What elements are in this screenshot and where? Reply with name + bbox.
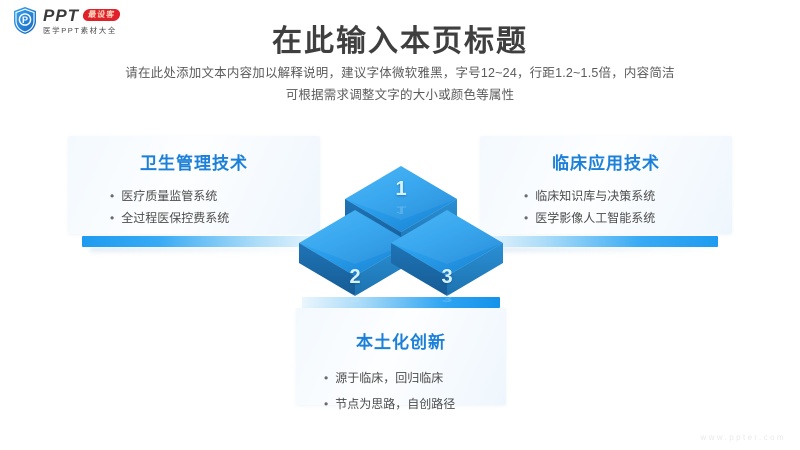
panel-left-heading: 卫生管理技术 bbox=[68, 136, 320, 174]
subtitle-line-2: 可根据需求调整文字的大小或颜色等属性 bbox=[70, 85, 730, 107]
panel-right-bullets: • 临床知识库与决策系统 • 医学影像人工智能系统 bbox=[480, 190, 732, 224]
bullet-text: 节点为思路，自创路径 bbox=[335, 398, 455, 411]
bullet-dot-icon: • bbox=[110, 212, 114, 224]
bullet-text: 医疗质量监管系统 bbox=[121, 190, 217, 203]
cube-3[interactable]: 3 3 bbox=[388, 208, 506, 300]
bullet-text: 源于临床，回归临床 bbox=[335, 372, 443, 385]
panel-right-accent-bar bbox=[480, 236, 718, 247]
panel-left-bullets: • 医疗质量监管系统 • 全过程医保控费系统 bbox=[68, 190, 320, 224]
bullet-dot-icon: • bbox=[524, 212, 528, 224]
page-title: 在此输入本页标题 bbox=[0, 16, 800, 60]
list-item: • 临床知识库与决策系统 bbox=[524, 190, 732, 203]
panel-bottom-bullets: • 源于临床，回归临床 • 节点为思路，自创路径 bbox=[296, 372, 506, 410]
panel-right-bar-shadow bbox=[488, 247, 716, 252]
cube-diagram: 1 1 bbox=[296, 164, 506, 292]
panel-right-heading: 临床应用技术 bbox=[480, 136, 732, 174]
panel-bottom-heading: 本土化创新 bbox=[296, 308, 506, 353]
panel-hygiene-management[interactable]: 卫生管理技术 • 医疗质量监管系统 • 全过程医保控费系统 bbox=[68, 136, 320, 234]
subtitle-line-1: 请在此处添加文本内容加以解释说明，建议字体微软雅黑，字号12~24，行距1.2~… bbox=[70, 63, 730, 85]
list-item: • 节点为思路，自创路径 bbox=[324, 398, 506, 411]
page-subtitle: 请在此处添加文本内容加以解释说明，建议字体微软雅黑，字号12~24，行距1.2~… bbox=[70, 63, 730, 107]
bullet-dot-icon: • bbox=[324, 372, 328, 384]
bullet-text: 医学影像人工智能系统 bbox=[535, 212, 655, 225]
panel-left-box: 卫生管理技术 • 医疗质量监管系统 • 全过程医保控费系统 bbox=[68, 136, 320, 234]
bullet-dot-icon: • bbox=[524, 190, 528, 202]
list-item: • 医学影像人工智能系统 bbox=[524, 212, 732, 225]
list-item: • 全过程医保控费系统 bbox=[110, 212, 320, 225]
list-item: • 源于临床，回归临床 bbox=[324, 372, 506, 385]
panel-left-accent-bar bbox=[82, 236, 320, 247]
bullet-dot-icon: • bbox=[110, 190, 114, 202]
panel-right-box: 临床应用技术 • 临床知识库与决策系统 • 医学影像人工智能系统 bbox=[480, 136, 732, 234]
panel-bottom-box: 本土化创新 • 源于临床，回归临床 • 节点为思路，自创路径 bbox=[296, 308, 506, 405]
list-item: • 医疗质量监管系统 bbox=[110, 190, 320, 203]
panel-localized-innovation[interactable]: 本土化创新 • 源于临床，回归临床 • 节点为思路，自创路径 bbox=[296, 297, 506, 405]
site-watermark: www.ppter.com bbox=[701, 433, 786, 442]
bullet-text: 临床知识库与决策系统 bbox=[535, 190, 655, 203]
bullet-dot-icon: • bbox=[324, 398, 328, 410]
panel-clinical-application[interactable]: 临床应用技术 • 临床知识库与决策系统 • 医学影像人工智能系统 bbox=[480, 136, 732, 234]
slide-canvas: P PPT 最设客 医学PPT素材大全 在此输入本页标题 请在此处添加文本内容加… bbox=[0, 0, 800, 450]
panel-left-bar-shadow bbox=[90, 247, 318, 252]
bullet-text: 全过程医保控费系统 bbox=[121, 212, 229, 225]
